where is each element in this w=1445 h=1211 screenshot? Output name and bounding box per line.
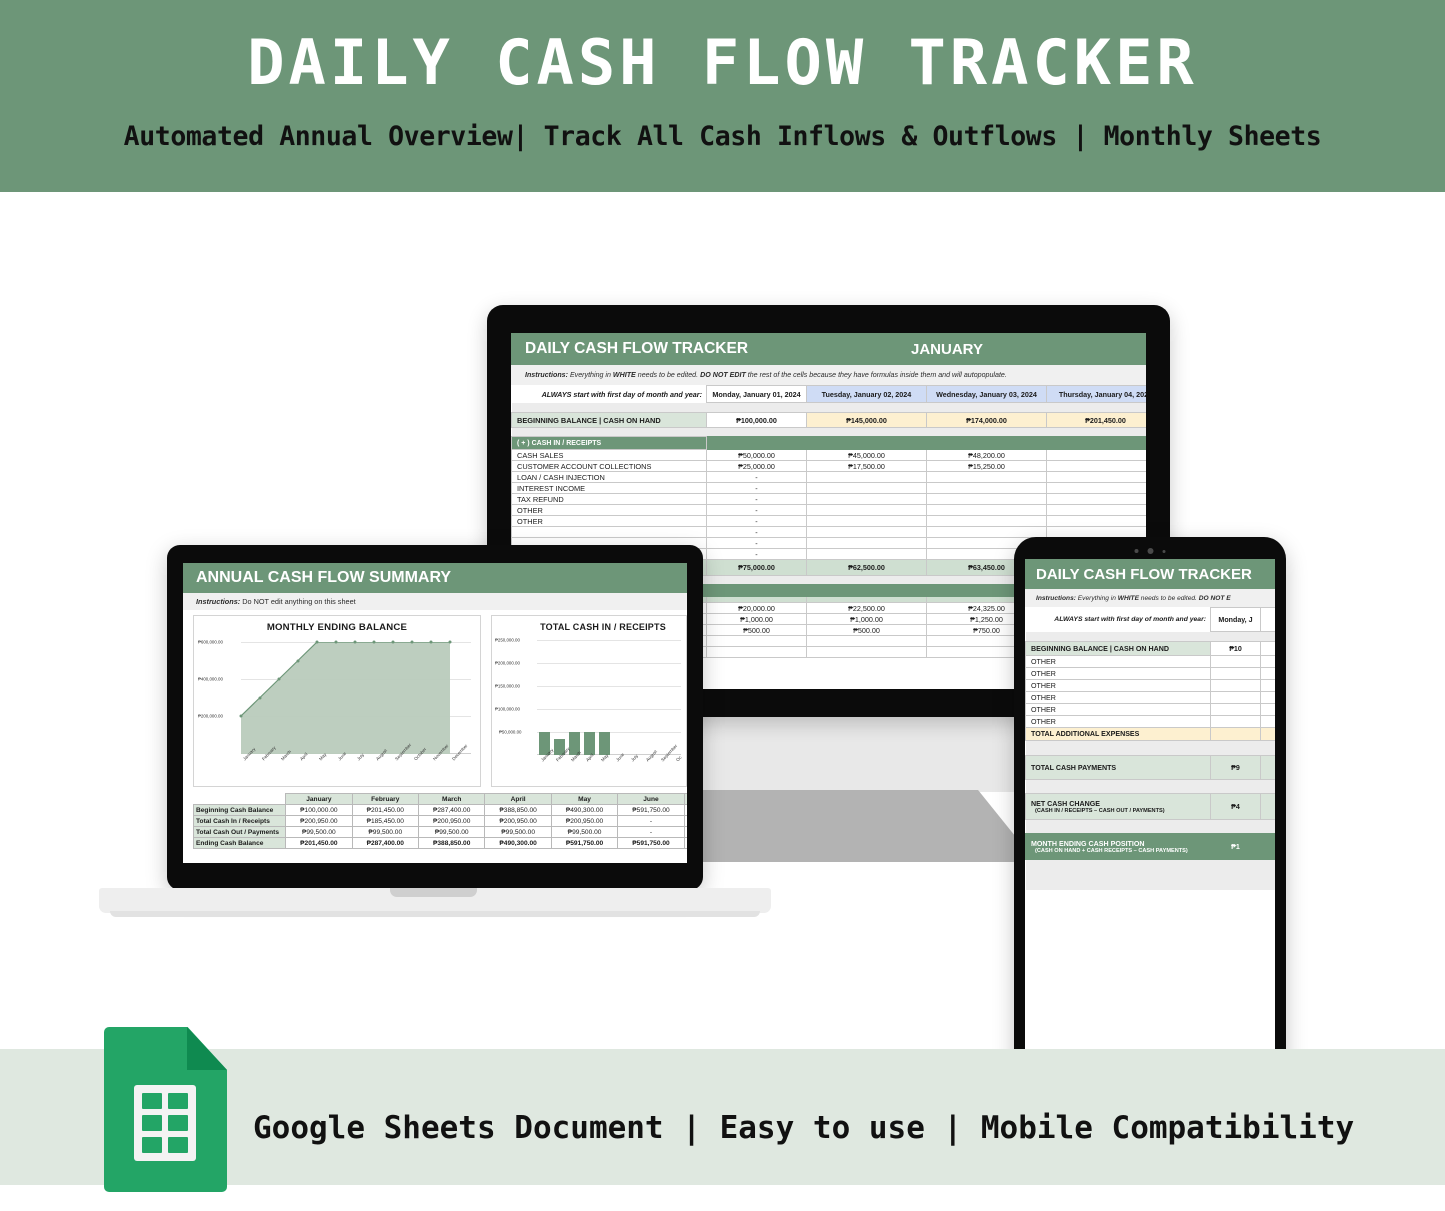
cell[interactable] — [1211, 692, 1261, 704]
instructions-text-2: needs to be edited. — [1139, 595, 1199, 602]
date-header-cell: Tuesday, January 02, 2024 — [807, 386, 927, 403]
cell[interactable] — [1261, 656, 1276, 668]
cell[interactable] — [1211, 704, 1261, 716]
row-label: CUSTOMER ACCOUNT COLLECTIONS — [512, 461, 707, 472]
cell: - — [618, 827, 684, 838]
cell[interactable] — [1047, 516, 1147, 527]
chart-plot-area — [537, 640, 681, 755]
total-additional-expenses-value — [1211, 728, 1261, 741]
net-cash-change-row: NET CASH CHANGE (CASH IN / RECEIPTS – CA… — [1026, 794, 1276, 820]
cell: ₱388,850.00 — [485, 805, 551, 816]
cell: ₱99,500.00 — [551, 827, 617, 838]
cell — [684, 827, 687, 838]
cell[interactable] — [1047, 461, 1147, 472]
cell: ₱201,450.00 — [286, 838, 352, 849]
cell[interactable]: ₱500.00 — [807, 625, 927, 636]
table-row: TAX REFUND- — [512, 494, 1147, 505]
month-ending-position-row: MONTH ENDING CASH POSITION (CASH ON HAND… — [1026, 834, 1276, 860]
table-row: OTHER — [1026, 656, 1276, 668]
cell[interactable] — [927, 494, 1047, 505]
total-cash-in-value: ₱62,500.00 — [807, 560, 927, 576]
tablet-sheet-title: DAILY CASH FLOW TRACKER — [1036, 566, 1252, 583]
row-label: OTHER — [1026, 704, 1211, 716]
cell: ₱591,750.00 — [618, 838, 684, 849]
date-header-cell: Thursday, January 04, 2024 — [1047, 386, 1147, 403]
row-label: Beginning Cash Balance — [194, 805, 286, 816]
cell[interactable] — [807, 472, 927, 483]
row-label: INTEREST INCOME — [512, 483, 707, 494]
cash-in-header-label: ( + ) CASH IN / RECEIPTS — [512, 437, 707, 450]
cell[interactable]: - — [707, 549, 807, 560]
tablet-sheet-instructions: Instructions: Everything in WHITE needs … — [1025, 589, 1275, 607]
beginning-balance-value: ₱145,000.00 — [807, 413, 927, 428]
spacer-row — [1026, 820, 1276, 834]
cell[interactable] — [807, 483, 927, 494]
beginning-balance-row: BEGINNING BALANCE | CASH ON HAND ₱10 — [1026, 642, 1276, 656]
cell[interactable] — [1261, 704, 1276, 716]
table-row: OTHER — [1026, 680, 1276, 692]
row-label: OTHER — [1026, 680, 1211, 692]
tablet-device: DAILY CASH FLOW TRACKER Instructions: Ev… — [1014, 537, 1286, 1115]
cell[interactable] — [807, 505, 927, 516]
cell[interactable] — [927, 472, 1047, 483]
first-date-cell[interactable]: Monday, J — [1211, 608, 1261, 632]
instructions-label: Instructions: — [196, 597, 240, 606]
cell[interactable]: ₱20,000.00 — [707, 603, 807, 614]
cell[interactable] — [1211, 668, 1261, 680]
cell — [684, 816, 687, 827]
cell: ₱99,500.00 — [418, 827, 484, 838]
instructions-text-1: Everything in — [568, 371, 613, 379]
column-header: March — [418, 794, 484, 805]
cell: ₱99,500.00 — [286, 827, 352, 838]
y-axis-tick: ₱50,000.00 — [499, 730, 521, 735]
total-cash-payments-row: TOTAL CASH PAYMENTS ₱9 — [1026, 756, 1276, 780]
date-header-row: ALWAYS start with first day of month and… — [1026, 608, 1276, 632]
cell[interactable] — [1211, 716, 1261, 728]
cell[interactable] — [1261, 608, 1276, 632]
instructions-label: Instructions: — [525, 371, 568, 379]
cell: ₱201,450.00 — [352, 805, 418, 816]
beginning-balance-value[interactable]: ₱10 — [1211, 642, 1261, 656]
instructions-text-3: the rest of the cells because they have … — [746, 371, 1007, 379]
cell[interactable] — [807, 636, 927, 647]
y-axis-tick: ₱100,000.00 — [495, 707, 520, 712]
cell[interactable] — [1047, 450, 1147, 461]
cell[interactable] — [1047, 483, 1147, 494]
beginning-balance-value: ₱201,450.00 — [1047, 413, 1147, 428]
cell: ₱591,750.00 — [551, 838, 617, 849]
net-cash-change-cell: NET CASH CHANGE (CASH IN / RECEIPTS – CA… — [1026, 794, 1211, 820]
cell[interactable] — [1047, 527, 1147, 538]
y-axis-tick: ₱200,000.00 — [198, 714, 223, 719]
area-series — [241, 642, 471, 754]
total-additional-expenses-row: TOTAL ADDITIONAL EXPENSES — [1026, 728, 1276, 741]
laptop-screen: ANNUAL CASH FLOW SUMMARY Instructions: D… — [183, 563, 687, 863]
tablet-grid: ALWAYS start with first day of month and… — [1025, 607, 1275, 890]
annual-sheet-instructions: Instructions: Do NOT edit anything on th… — [183, 593, 687, 610]
cell[interactable]: ₱45,000.00 — [807, 450, 927, 461]
row-label: LOAN / CASH INJECTION — [512, 472, 707, 483]
row-label: OTHER — [512, 505, 707, 516]
instructions-text-2: needs to be edited. — [636, 371, 700, 379]
table-row: OTHER- — [512, 516, 1147, 527]
table-row: - — [512, 527, 1147, 538]
x-axis-tick: Oc — [675, 755, 682, 763]
spacer-row — [1026, 632, 1276, 642]
y-axis-tick: ₱200,000.00 — [495, 661, 520, 666]
table-row: OTHER- — [512, 505, 1147, 516]
cell[interactable] — [1261, 680, 1276, 692]
cell[interactable]: ₱17,500.00 — [807, 461, 927, 472]
page-subtitle: Automated Annual Overview| Track All Cas… — [124, 121, 1322, 152]
cell[interactable] — [1261, 668, 1276, 680]
table-row: OTHER — [1026, 716, 1276, 728]
cell[interactable] — [1261, 692, 1276, 704]
row-label: Ending Cash Balance — [194, 838, 286, 849]
cell: ₱591 — [684, 805, 687, 816]
cell: ₱200,950.00 — [286, 816, 352, 827]
cell[interactable] — [807, 549, 927, 560]
table-row: CASH SALES₱50,000.00₱45,000.00₱48,200.00 — [512, 450, 1147, 461]
start-date-label: ALWAYS start with first day of month and… — [1026, 608, 1211, 632]
table-row: CUSTOMER ACCOUNT COLLECTIONS₱25,000.00₱1… — [512, 461, 1147, 472]
spacer-row — [512, 428, 1147, 437]
row-label: Total Cash Out / Payments — [194, 827, 286, 838]
net-cash-change-sublabel: (CASH IN / RECEIPTS – CASH OUT / PAYMENT… — [1031, 808, 1210, 814]
cell[interactable] — [807, 516, 927, 527]
page-title: DAILY CASH FLOW TRACKER — [247, 30, 1198, 95]
monthly-ending-balance-chart: MONTHLY ENDING BALANCE — [193, 615, 481, 787]
instructions-donotedit: DO NOT E — [1199, 595, 1231, 602]
cell[interactable] — [807, 647, 927, 658]
table-row: Beginning Cash Balance ₱100,000.00 ₱201,… — [194, 805, 688, 816]
cell[interactable]: ₱15,250.00 — [927, 461, 1047, 472]
cell[interactable]: - — [707, 483, 807, 494]
cell: - — [618, 816, 684, 827]
month-ending-sublabel: (CASH ON HAND + CASH RECEIPTS – CASH PAY… — [1031, 848, 1210, 854]
google-sheets-icon — [104, 1027, 227, 1192]
total-additional-expenses-label: TOTAL ADDITIONAL EXPENSES — [1026, 728, 1211, 741]
net-cash-change-label: NET CASH CHANGE — [1031, 800, 1210, 808]
annual-summary-sheet: ANNUAL CASH FLOW SUMMARY Instructions: D… — [183, 563, 687, 849]
instructions-white: WHITE — [613, 371, 636, 379]
device-mockup-stage: DAILY CASH FLOW TRACKER JANUARY Instruct… — [0, 192, 1445, 1020]
cell: ₱99,500.00 — [352, 827, 418, 838]
laptop-trackpad-notch — [390, 888, 477, 897]
cell: ₱591,750.00 — [618, 805, 684, 816]
cell: ₱287,400.00 — [418, 805, 484, 816]
cell: ₱287,400.00 — [352, 838, 418, 849]
cell — [1261, 794, 1276, 820]
cell: ₱185,450.00 — [352, 816, 418, 827]
tablet-camera-dots — [1135, 548, 1166, 554]
total-cash-payments-value: ₱9 — [1211, 756, 1261, 780]
chart-title: MONTHLY ENDING BALANCE — [194, 622, 480, 633]
date-header-cell[interactable]: Monday, January 01, 2024 — [707, 386, 807, 403]
row-label: OTHER — [1026, 668, 1211, 680]
cell[interactable]: ₱22,500.00 — [807, 603, 927, 614]
table-header-row: January February March April May June J — [194, 794, 688, 805]
cash-in-section-header: ( + ) CASH IN / RECEIPTS — [512, 437, 1147, 450]
cell: ₱200,950.00 — [418, 816, 484, 827]
column-header: May — [551, 794, 617, 805]
cell[interactable]: ₱25,000.00 — [707, 461, 807, 472]
instructions-text-1: Everything in — [1076, 595, 1118, 602]
column-header: February — [352, 794, 418, 805]
cell: ₱100,000.00 — [286, 805, 352, 816]
spacer-row — [1026, 860, 1276, 890]
cell[interactable] — [1261, 642, 1276, 656]
month-ending-label: MONTH ENDING CASH POSITION — [1031, 840, 1210, 848]
cell[interactable] — [1211, 680, 1261, 692]
charts-row: MONTHLY ENDING BALANCE — [183, 610, 687, 787]
row-label: OTHER — [1026, 692, 1211, 704]
annual-sheet-title: ANNUAL CASH FLOW SUMMARY — [196, 569, 451, 587]
table-row: Total Cash In / Receipts ₱200,950.00 ₱18… — [194, 816, 688, 827]
beginning-balance-value[interactable]: ₱100,000.00 — [707, 413, 807, 428]
cell: ₱200,950.00 — [485, 816, 551, 827]
annual-sheet-header: ANNUAL CASH FLOW SUMMARY — [183, 563, 687, 593]
chart-plot-area — [241, 642, 471, 754]
cell[interactable] — [707, 647, 807, 658]
cell[interactable]: - — [707, 538, 807, 549]
row-label: OTHER — [1026, 716, 1211, 728]
cell[interactable] — [927, 516, 1047, 527]
column-header: January — [286, 794, 352, 805]
column-header: J — [684, 794, 687, 805]
chart-title: TOTAL CASH IN / RECEIPTS — [492, 622, 686, 632]
y-axis-tick: ₱150,000.00 — [495, 684, 520, 689]
laptop-device: ANNUAL CASH FLOW SUMMARY Instructions: D… — [167, 545, 703, 890]
hero-banner: DAILY CASH FLOW TRACKER Automated Annual… — [0, 0, 1445, 192]
cell[interactable] — [707, 636, 807, 647]
cell[interactable]: - — [707, 505, 807, 516]
column-header: April — [485, 794, 551, 805]
beginning-balance-label: BEGINNING BALANCE | CASH ON HAND — [1026, 642, 1211, 656]
cell[interactable]: ₱50,000.00 — [707, 450, 807, 461]
cell[interactable]: ₱1,000.00 — [707, 614, 807, 625]
tablet-screen: DAILY CASH FLOW TRACKER Instructions: Ev… — [1025, 559, 1275, 1093]
start-date-label: ALWAYS start with first day of month and… — [512, 386, 707, 403]
cell[interactable]: - — [707, 527, 807, 538]
table-row: OTHER — [1026, 692, 1276, 704]
sheets-grid-cells — [142, 1093, 188, 1153]
cell — [1261, 756, 1276, 780]
instructions-label: Instructions: — [1036, 595, 1076, 602]
tablet-tracker-sheet: DAILY CASH FLOW TRACKER Instructions: Ev… — [1025, 559, 1275, 890]
instructions-text: Do NOT edit anything on this sheet — [240, 597, 355, 606]
date-header-row: ALWAYS start with first day of month and… — [512, 386, 1147, 403]
annual-summary-table: January February March April May June J … — [193, 793, 687, 849]
row-label: Total Cash In / Receipts — [194, 816, 286, 827]
tablet-sheet-header: DAILY CASH FLOW TRACKER — [1025, 559, 1275, 589]
table-row: Ending Cash Balance ₱201,450.00 ₱287,400… — [194, 838, 688, 849]
table-row: Total Cash Out / Payments ₱99,500.00 ₱99… — [194, 827, 688, 838]
cell[interactable]: ₱1,000.00 — [807, 614, 927, 625]
cell[interactable] — [1047, 505, 1147, 516]
table-row: LOAN / CASH INJECTION- — [512, 472, 1147, 483]
cell[interactable] — [1261, 716, 1276, 728]
instructions-white: WHITE — [1118, 595, 1139, 602]
cell[interactable] — [807, 527, 927, 538]
bar — [584, 732, 595, 755]
cell[interactable]: - — [707, 516, 807, 527]
total-cash-payments-label: TOTAL CASH PAYMENTS — [1026, 756, 1211, 780]
cell[interactable] — [1047, 472, 1147, 483]
row-label: OTHER — [512, 516, 707, 527]
cell[interactable] — [807, 538, 927, 549]
column-header: June — [618, 794, 684, 805]
total-cash-in-chart: TOTAL CASH IN / RECEIPTS — [491, 615, 687, 787]
cell[interactable] — [927, 527, 1047, 538]
row-label: OTHER — [1026, 656, 1211, 668]
cell: ₱99,500.00 — [485, 827, 551, 838]
row-label — [512, 527, 707, 538]
beginning-balance-label: BEGINNING BALANCE | CASH ON HAND — [512, 413, 707, 428]
table-row: OTHER — [1026, 704, 1276, 716]
beginning-balance-row: BEGINNING BALANCE | CASH ON HAND ₱100,00… — [512, 413, 1147, 428]
footer-text: Google Sheets Document | Easy to use | M… — [253, 1110, 1354, 1146]
cell[interactable] — [807, 494, 927, 505]
date-header-cell: Wednesday, January 03, 2024 — [927, 386, 1047, 403]
spacer-row — [512, 403, 1147, 413]
spacer-row — [1026, 780, 1276, 794]
cell[interactable]: ₱500.00 — [707, 625, 807, 636]
cell: ₱200,950.00 — [551, 816, 617, 827]
cell[interactable] — [1211, 656, 1261, 668]
sheet-title: DAILY CASH FLOW TRACKER — [525, 340, 748, 358]
cell[interactable] — [1047, 494, 1147, 505]
month-ending-cell: MONTH ENDING CASH POSITION (CASH ON HAND… — [1026, 834, 1211, 860]
table-row: INTEREST INCOME- — [512, 483, 1147, 494]
y-axis-tick: ₱250,000.00 — [495, 638, 520, 643]
net-cash-change-value: ₱4 — [1211, 794, 1261, 820]
row-label: TAX REFUND — [512, 494, 707, 505]
laptop-base-lip — [110, 911, 760, 917]
row-label: CASH SALES — [512, 450, 707, 461]
total-cash-in-value: ₱75,000.00 — [707, 560, 807, 576]
cell: ₱388,850.00 — [418, 838, 484, 849]
cell[interactable]: ₱48,200.00 — [927, 450, 1047, 461]
sheet-header: DAILY CASH FLOW TRACKER JANUARY — [511, 333, 1146, 365]
y-axis-tick: ₱600,000.00 — [198, 640, 223, 645]
bar — [599, 732, 610, 755]
instructions-donotedit: DO NOT EDIT — [700, 371, 746, 379]
cell — [1261, 834, 1276, 860]
cell: ₱490,300.00 — [485, 838, 551, 849]
cell[interactable]: - — [707, 472, 807, 483]
beginning-balance-value: ₱174,000.00 — [927, 413, 1047, 428]
sheet-month: JANUARY — [911, 333, 983, 365]
cell — [1261, 728, 1276, 741]
cell[interactable] — [927, 505, 1047, 516]
spacer-row — [1026, 741, 1276, 756]
y-axis-tick: ₱400,000.00 — [198, 677, 223, 682]
month-ending-value: ₱1 — [1211, 834, 1261, 860]
sheet-instructions: Instructions: Everything in WHITE needs … — [511, 365, 1146, 385]
table-row: OTHER — [1026, 668, 1276, 680]
cell[interactable] — [927, 483, 1047, 494]
cell: ₱490,300.00 — [551, 805, 617, 816]
cell[interactable]: - — [707, 494, 807, 505]
cell: ₱591 — [684, 838, 687, 849]
